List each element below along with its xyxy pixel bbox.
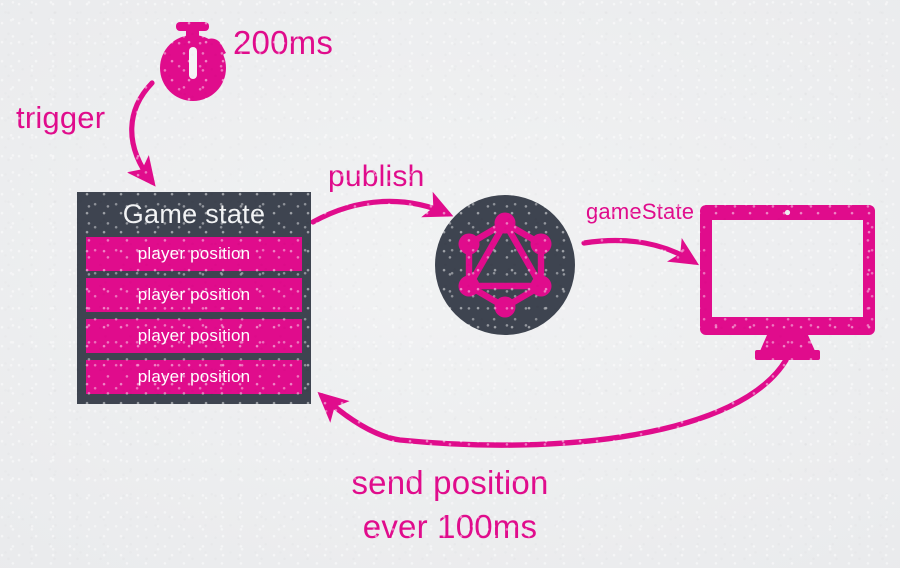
diagram-canvas: 200ms trigger publish gameState send pos… <box>0 0 900 568</box>
client-node <box>0 0 900 568</box>
monitor-icon <box>700 205 875 360</box>
